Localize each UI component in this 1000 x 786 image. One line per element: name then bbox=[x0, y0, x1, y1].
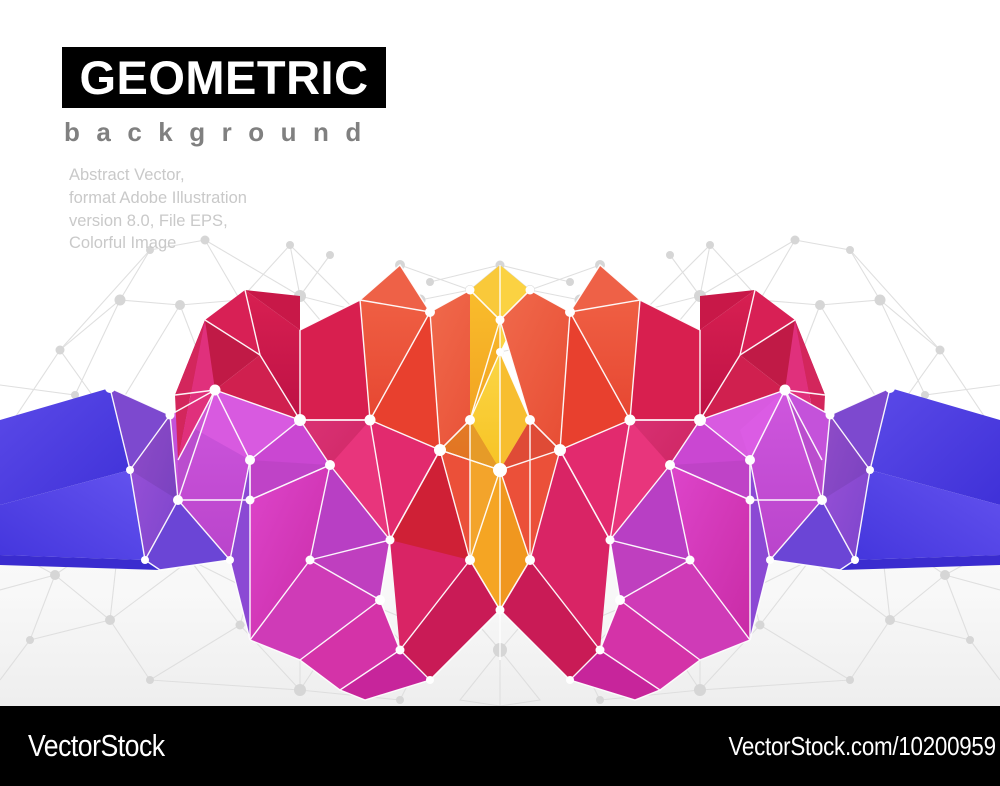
page-title: GEOMETRIC bbox=[79, 54, 368, 101]
subtitle: background bbox=[64, 117, 378, 148]
watermark-bar: VectorStock VectorStock.com/10200959 bbox=[0, 706, 1000, 786]
title-box: GEOMETRIC bbox=[62, 47, 386, 108]
description-text: Abstract Vector, format Adobe Illustrati… bbox=[69, 164, 247, 255]
geometric-background-canvas: GEOMETRIC background Abstract Vector, fo… bbox=[0, 0, 1000, 786]
watermark-url: VectorStock.com/10200959 bbox=[729, 731, 996, 762]
watermark-brand: VectorStock bbox=[28, 728, 165, 764]
